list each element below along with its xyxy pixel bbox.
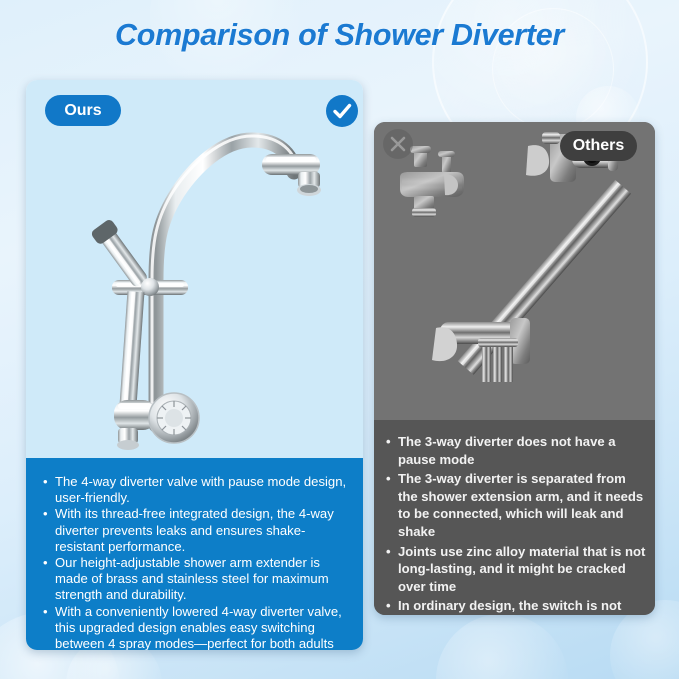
shower-outlet-head [262,154,321,196]
ours-card: Ours The 4-way diverter valve with pause… [26,80,363,650]
list-item: The 3-way diverter is separated from the… [385,470,647,540]
list-item: With its thread-free integrated design, … [42,506,347,555]
list-item: The 3-way diverter does not have a pause… [385,433,647,468]
list-item: In ordinary design, the switch is not ea… [385,597,647,615]
others-card: Others The 3-way diverter does not have … [374,122,655,615]
others-badge: Others [560,131,637,161]
comparison-infographic: Comparison of Shower Diverter [0,0,679,679]
list-item: Our height-adjustable shower arm extende… [42,555,347,604]
page-title: Comparison of Shower Diverter [0,16,679,54]
shower-extension-arm-part [432,132,631,382]
others-badge-label: Others [573,137,625,155]
ours-badge-label: Ours [64,102,101,120]
others-product-illustration [374,122,655,420]
ours-badge: Ours [45,95,121,126]
list-item: Joints use zinc alloy material that is n… [385,543,647,596]
ours-product-illustration [26,80,363,458]
background-bubble [436,614,568,679]
mid-junction [90,218,188,296]
list-item: With a conveniently lowered 4-way divert… [42,604,347,650]
others-bullet-list: The 3-way diverter does not have a pause… [385,420,647,615]
ours-image-pane: Ours [26,80,363,458]
four-way-diverter-valve [114,393,199,450]
check-circle-icon [325,94,359,128]
list-item: The 4-way diverter valve with pause mode… [42,474,347,506]
ours-bullet-list: The 4-way diverter valve with pause mode… [42,458,347,650]
others-image-pane: Others [374,122,655,420]
x-circle-icon [381,127,415,161]
